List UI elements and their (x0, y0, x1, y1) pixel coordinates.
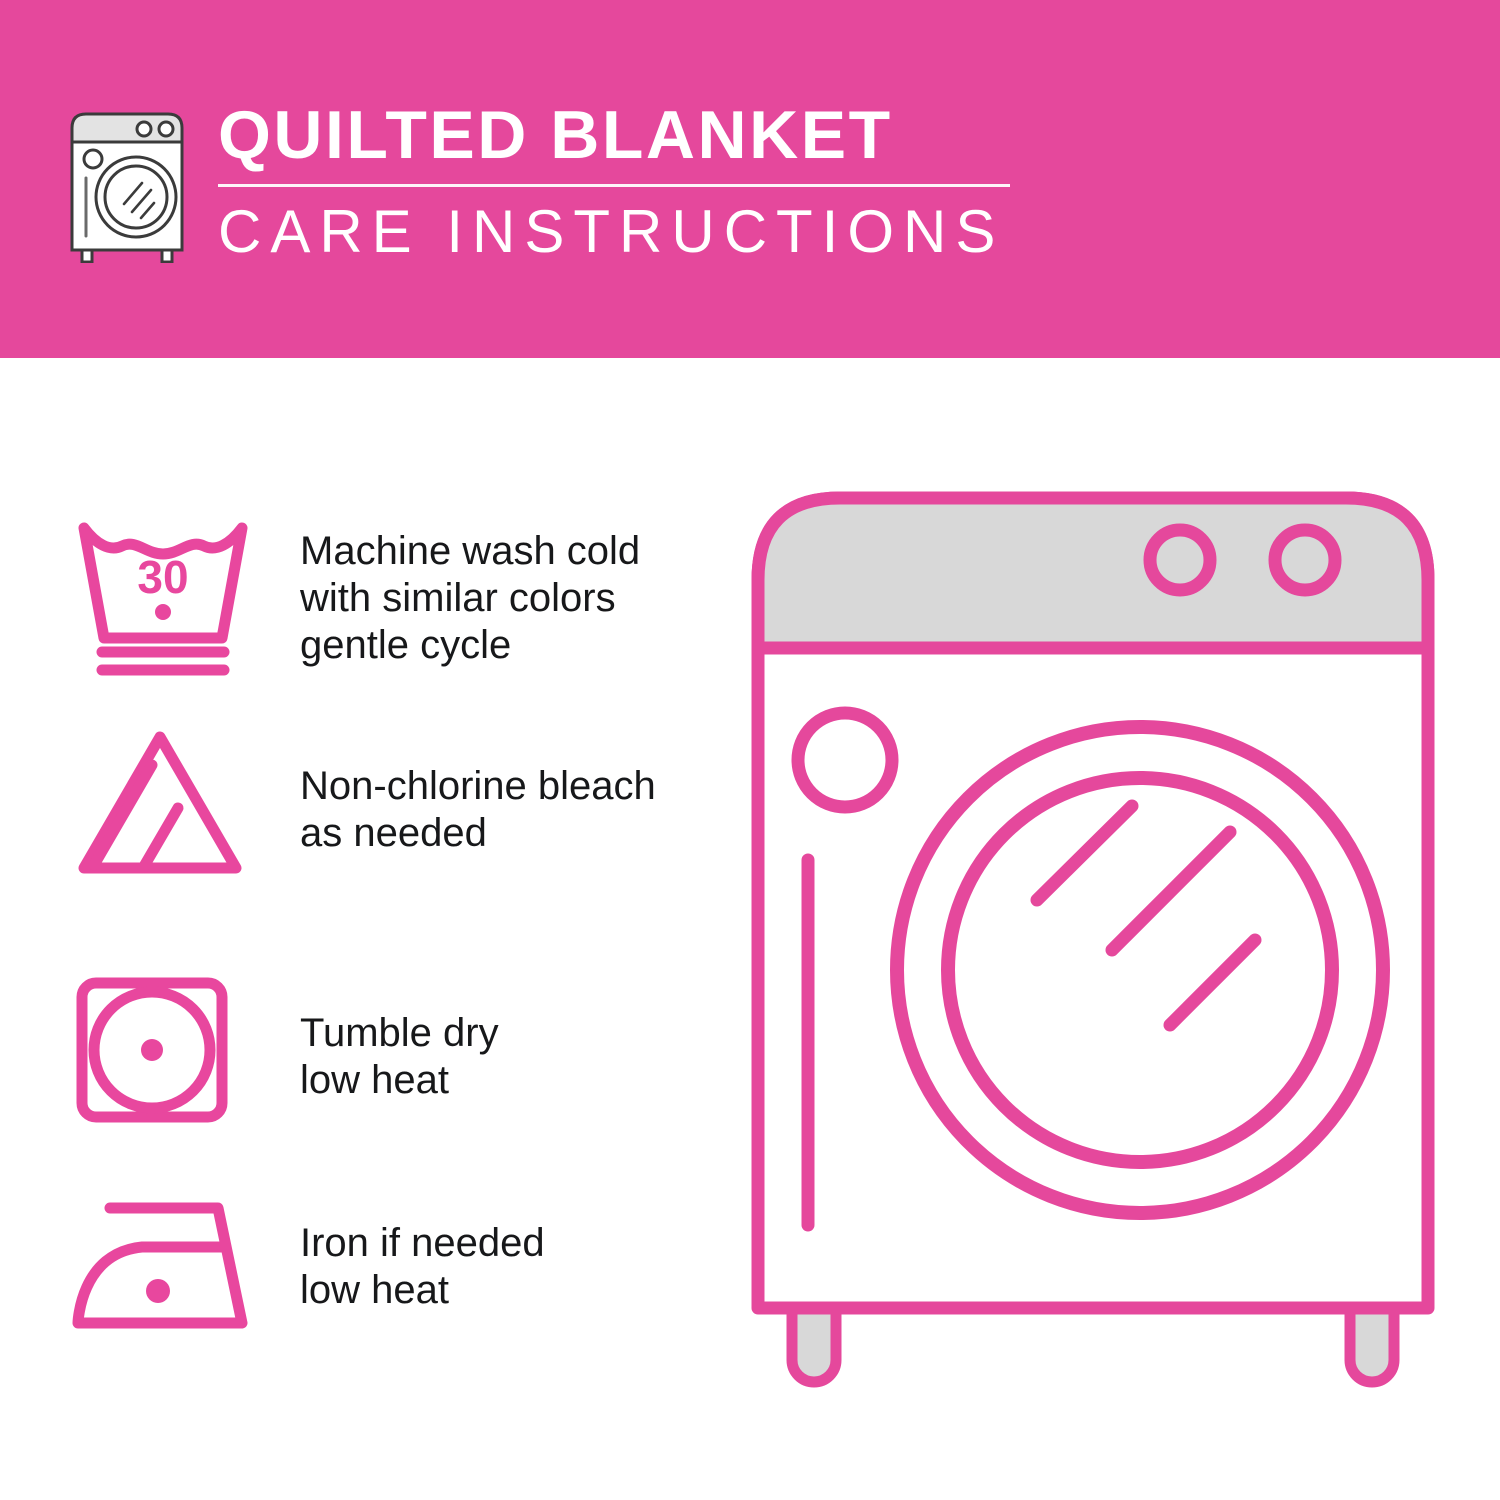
care-text-line: low heat (300, 1057, 720, 1104)
care-text-line: Tumble dry (300, 1010, 720, 1057)
care-row-iron: Iron if needed low heat (0, 1195, 740, 1395)
care-row-wash: 30 Machine wash cold with similar colors… (0, 510, 740, 710)
care-instruction-list: 30 Machine wash cold with similar colors… (0, 380, 740, 1380)
iron-low-heat-icon (70, 1195, 260, 1370)
tumble-dry-low-icon (70, 970, 260, 1145)
care-text-line: gentle cycle (300, 622, 720, 669)
page-subtitle: CARE INSTRUCTIONS (218, 199, 1018, 265)
care-row-tumble-dry: Tumble dry low heat (0, 970, 740, 1170)
care-text-wash: Machine wash cold with similar colors ge… (300, 528, 720, 669)
care-text-line: Non-chlorine bleach (300, 763, 720, 810)
front-load-washing-machine-illustration (740, 480, 1460, 1430)
title-divider (218, 184, 1010, 187)
header-banner: QUILTED BLANKET CARE INSTRUCTIONS (0, 0, 1500, 358)
wash-temperature-value: 30 (137, 551, 188, 603)
care-text-line: Machine wash cold (300, 528, 720, 575)
wash-tub-30-gentle-icon: 30 (70, 510, 260, 685)
care-text-iron: Iron if needed low heat (300, 1220, 720, 1314)
care-row-bleach: Non-chlorine bleach as needed (0, 725, 740, 925)
care-text-line: with similar colors (300, 575, 720, 622)
care-text-line: as needed (300, 810, 720, 857)
care-text-tumble-dry: Tumble dry low heat (300, 1010, 720, 1104)
header-text-block: QUILTED BLANKET CARE INSTRUCTIONS (218, 96, 1018, 265)
page-title: QUILTED BLANKET (218, 96, 1018, 174)
non-chlorine-bleach-triangle-icon (70, 725, 260, 900)
care-text-bleach: Non-chlorine bleach as needed (300, 763, 720, 857)
washing-machine-icon (66, 108, 188, 263)
care-text-line: low heat (300, 1267, 720, 1314)
care-text-line: Iron if needed (300, 1220, 720, 1267)
